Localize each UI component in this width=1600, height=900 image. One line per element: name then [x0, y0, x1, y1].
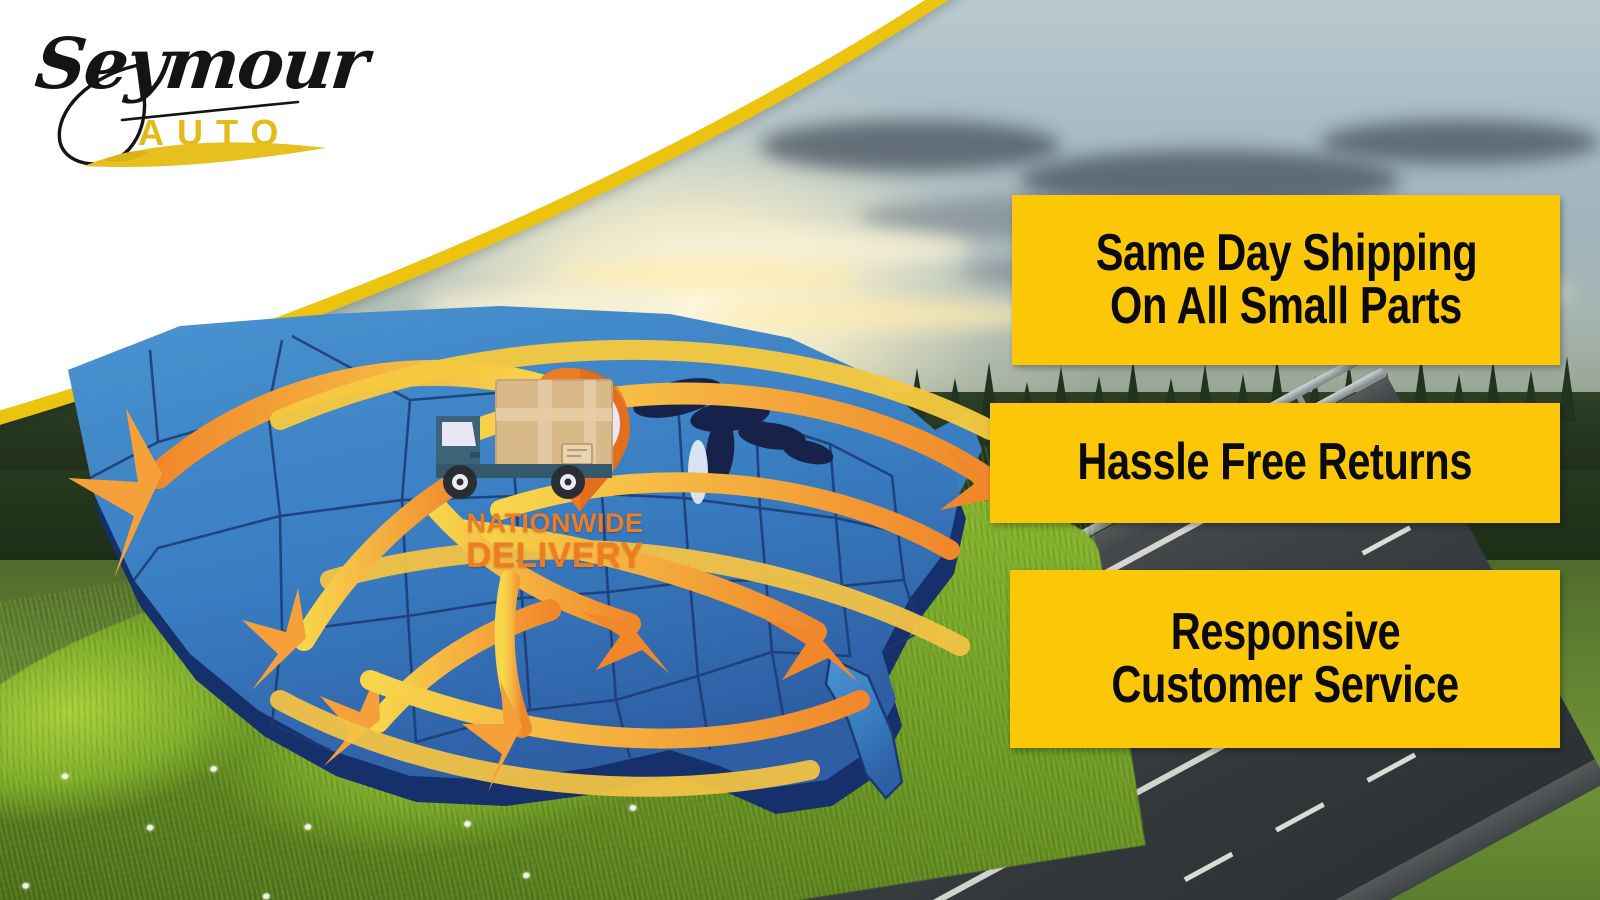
delivery-line-1: NATIONWIDE — [420, 508, 690, 539]
delivery-icons — [420, 360, 690, 520]
callout-3-line-2: Customer Service — [1111, 659, 1458, 712]
promo-banner: NATIONWIDE DELIVERY Same Day Shipping On… — [0, 0, 1600, 900]
nationwide-delivery-badge: NATIONWIDE DELIVERY — [420, 360, 690, 590]
nationwide-delivery-text: NATIONWIDE DELIVERY — [420, 508, 690, 576]
callout-hassle-free-returns: Hassle Free Returns — [990, 403, 1560, 523]
delivery-line-2: DELIVERY — [420, 536, 690, 576]
callout-responsive-customer-service: Responsive Customer Service — [1010, 570, 1560, 748]
callout-1-line-1: Same Day Shipping — [1095, 227, 1477, 280]
callout-3-line-1: Responsive — [1170, 606, 1400, 659]
callout-1-line-2: On All Small Parts — [1110, 280, 1462, 333]
brand-logo[interactable]: Seymour AUTO — [26, 16, 356, 176]
callout-same-day-shipping: Same Day Shipping On All Small Parts — [1012, 195, 1560, 365]
lake-michigan-highlight — [688, 440, 708, 504]
callout-2-line-1: Hassle Free Returns — [1078, 436, 1473, 489]
logo-swoosh-icon — [26, 16, 356, 176]
